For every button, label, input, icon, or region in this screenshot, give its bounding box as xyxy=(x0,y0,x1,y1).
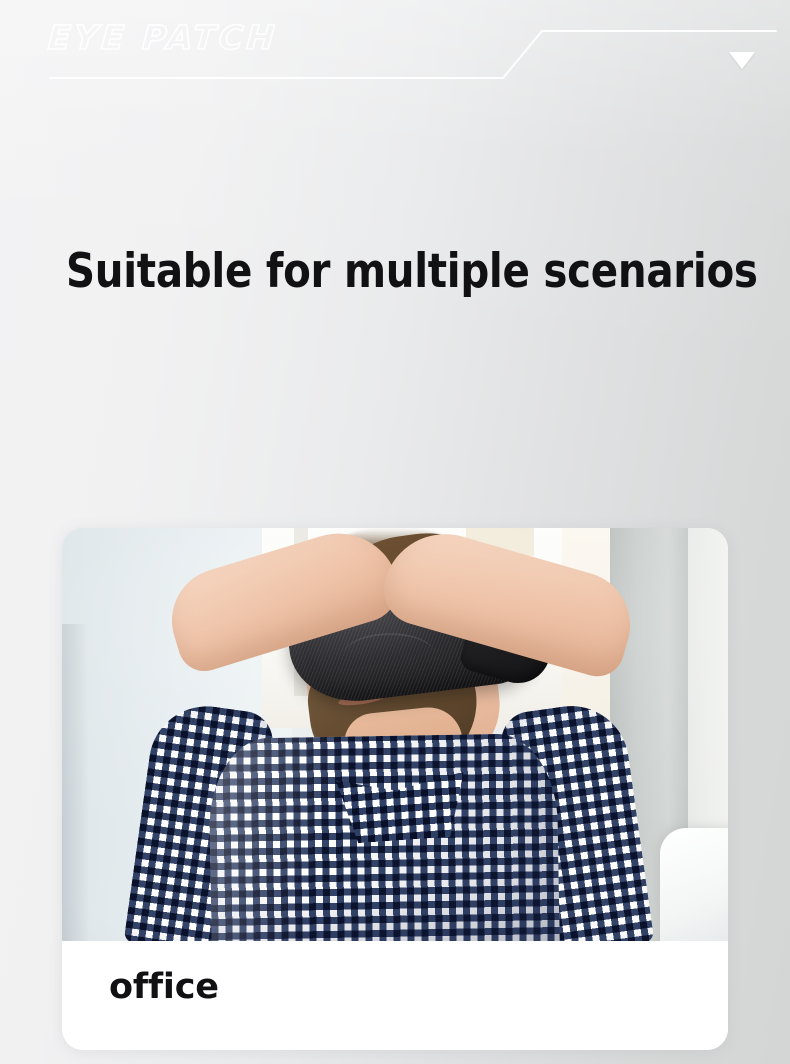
product-detail-page: EYE PATCH Suitable for multiple scenario… xyxy=(0,0,790,1064)
photo-vignette xyxy=(62,528,728,941)
brand-wordmark: EYE PATCH xyxy=(47,21,279,54)
triangle-down-icon[interactable] xyxy=(729,52,755,69)
scenario-photo xyxy=(62,528,728,941)
page-header: EYE PATCH xyxy=(0,0,790,100)
scenario-card-office[interactable]: office xyxy=(62,528,728,1050)
page-title: Suitable for multiple scenarios xyxy=(66,246,735,299)
scenario-caption-label: office xyxy=(109,970,219,1005)
scenario-caption-bar: office xyxy=(62,941,728,1050)
